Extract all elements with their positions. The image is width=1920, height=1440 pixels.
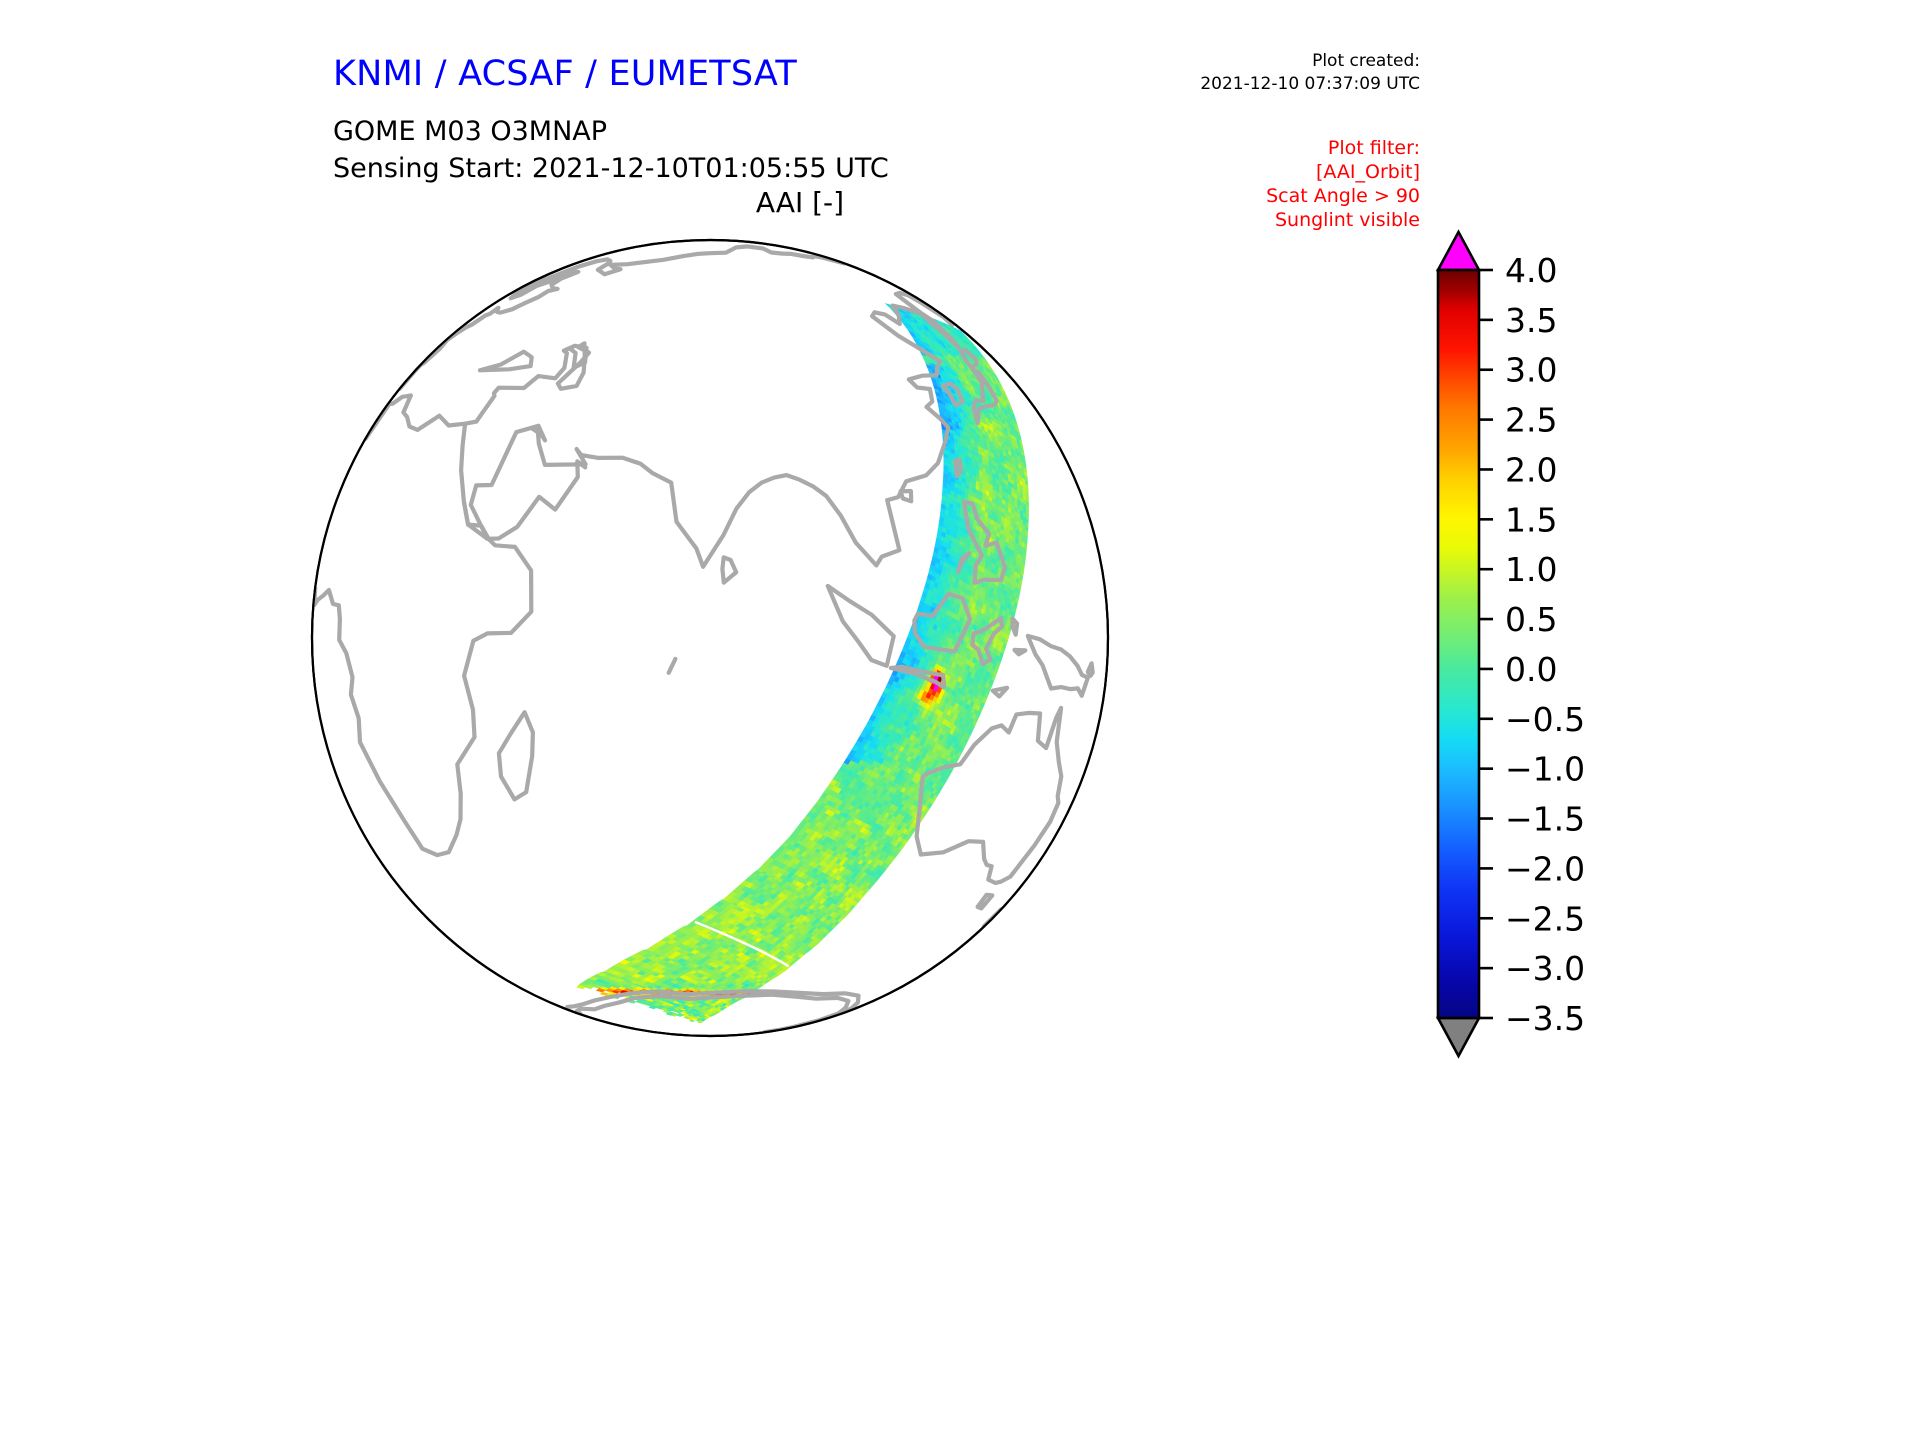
plot-created-timestamp: 2021-12-10 07:37:09 UTC xyxy=(1010,73,1420,96)
colorbar-tick-label: 1.0 xyxy=(1505,550,1557,589)
plot-filter-title: Plot filter: xyxy=(980,136,1420,160)
colorbar-tick-label: −2.0 xyxy=(1505,849,1585,888)
plot-filter-line-2: Scat Angle > 90 xyxy=(980,184,1420,208)
sensing-start-line: Sensing Start: 2021-12-10T01:05:55 UTC xyxy=(333,150,889,187)
colorbar-tick-label: −0.5 xyxy=(1505,700,1585,739)
coastline-png-islands xyxy=(1088,663,1093,676)
plot-created-label: Plot created: xyxy=(1010,50,1420,73)
colorbar-tick-label: −1.5 xyxy=(1505,800,1585,839)
colorbar-over-range-arrow xyxy=(1438,232,1479,270)
colorbar-under-range-arrow xyxy=(1438,1018,1479,1056)
coastline-halmahera xyxy=(1013,619,1018,635)
colorbar-tick-label: 3.0 xyxy=(1505,351,1557,390)
plot-filter-line-1: [AAI_Orbit] xyxy=(980,160,1420,184)
product-info-block: GOME M03 O3MNAP Sensing Start: 2021-12-1… xyxy=(333,113,889,187)
colorbar-tick-label: 4.0 xyxy=(1505,251,1557,290)
plot-filter-block: Plot filter: [AAI_Orbit] Scat Angle > 90… xyxy=(980,136,1420,232)
instrument-line: GOME M03 O3MNAP xyxy=(333,113,889,150)
page-title-organisations: KNMI / ACSAF / EUMETSAT xyxy=(333,54,797,94)
plot-created-block: Plot created: 2021-12-10 07:37:09 UTC xyxy=(1010,50,1420,96)
colorbar-tick-label: 2.5 xyxy=(1505,401,1557,440)
colorbar-tick-label: 1.5 xyxy=(1505,500,1557,539)
colorbar-tick-label: 2.0 xyxy=(1505,450,1557,489)
colorbar-tick-label: −3.0 xyxy=(1505,949,1585,988)
colorbar-gradient xyxy=(1438,270,1479,1018)
colorbar-tick-label: 0.5 xyxy=(1505,600,1557,639)
globe-map-panel xyxy=(300,228,1120,1048)
colorbar-panel: 4.03.53.02.52.01.51.00.50.0−0.5−1.0−1.5−… xyxy=(1420,228,1680,1068)
colorbar-tick-label: −1.0 xyxy=(1505,750,1585,789)
colorbar-tick-label: −3.5 xyxy=(1505,999,1585,1038)
coastline-seram xyxy=(1015,650,1026,654)
colorbar-tick-label: −2.5 xyxy=(1505,899,1585,938)
colorbar-tick-label: 0.0 xyxy=(1505,650,1557,689)
colorbar-tick-label: 3.5 xyxy=(1505,301,1557,340)
